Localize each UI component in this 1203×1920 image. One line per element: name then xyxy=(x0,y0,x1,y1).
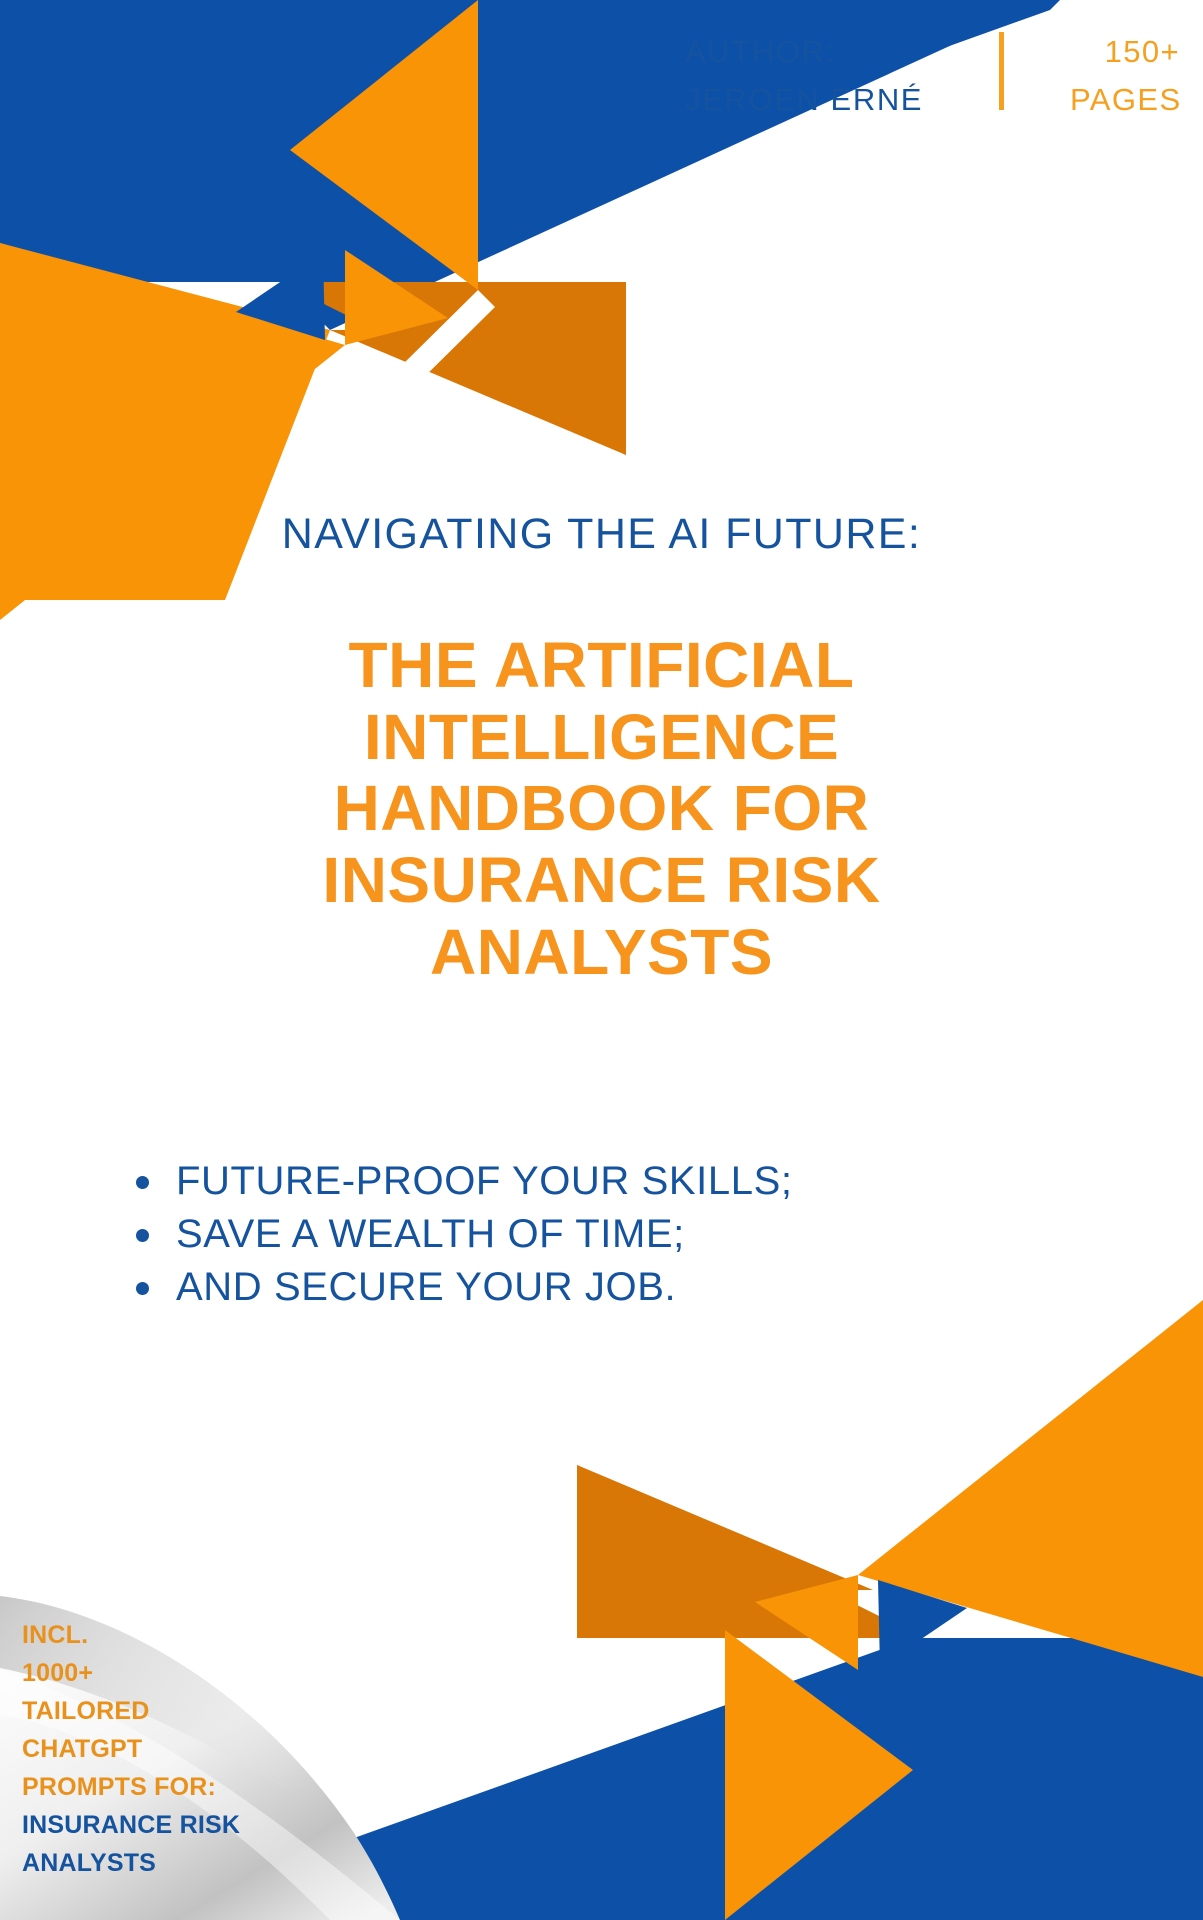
author-block: AUTHOR: JEROEN ERNÉ xyxy=(685,22,985,124)
shape-orange-dark-wedge-top xyxy=(280,282,626,455)
shape-orange-left-triangle xyxy=(0,243,345,620)
author-name: JEROEN ERNÉ xyxy=(685,76,985,124)
shape-blue-small-triangle-bottom xyxy=(878,1580,967,1667)
shape-blue-top-banner xyxy=(0,0,560,280)
main-title-line-3: HANDBOOK FOR xyxy=(150,773,1053,845)
benefit-item: SAVE A WEALTH OF TIME; xyxy=(128,1208,1028,1261)
benefits-list: FUTURE-PROOF YOUR SKILLS; SAVE A WEALTH … xyxy=(128,1155,1028,1313)
pages-count: 150+ xyxy=(1070,28,1180,76)
promo-line: 1000+ xyxy=(22,1654,322,1692)
pages-block: 150+ PAGES xyxy=(1070,22,1180,124)
header: AUTHOR: JEROEN ERNÉ 150+ PAGES xyxy=(500,22,1180,132)
promo-line: TAILORED xyxy=(22,1692,322,1730)
shape-orange-left-wing-lower xyxy=(0,330,330,600)
shape-orange-dark-wedge-bottom xyxy=(577,1465,923,1638)
promo-line: INCL. xyxy=(22,1616,322,1654)
vertical-divider xyxy=(999,32,1004,110)
main-title-line-2: INTELLIGENCE xyxy=(150,702,1053,774)
author-label: AUTHOR: xyxy=(685,28,985,76)
shape-blue-small-triangle xyxy=(236,253,325,340)
promo-line: CHATGPT xyxy=(22,1730,322,1768)
shape-orange-arrow-left xyxy=(290,0,478,290)
main-title-line-1: THE ARTIFICIAL xyxy=(150,630,1053,702)
shape-orange-big-left-pointer xyxy=(180,0,478,288)
subtitle: NAVIGATING THE AI FUTURE: xyxy=(0,510,1203,559)
shape-orange-dark-wedge-bottom-2 xyxy=(577,1465,873,1590)
promo-block: INCL. 1000+ TAILORED CHATGPT PROMPTS FOR… xyxy=(22,1616,322,1882)
promo-target-line: INSURANCE RISK xyxy=(22,1806,322,1844)
shape-white-gap-top xyxy=(313,290,495,470)
shape-orange-right-wing xyxy=(858,1300,1203,1677)
pages-word: PAGES xyxy=(1070,76,1180,124)
book-cover: AUTHOR: JEROEN ERNÉ 150+ PAGES NAVIGATIN… xyxy=(0,0,1203,1920)
shape-orange-small-triangle-bottom xyxy=(755,1575,858,1670)
benefit-item: AND SECURE YOUR JOB. xyxy=(128,1261,1028,1314)
shape-orange-arrow-right xyxy=(725,1630,913,1920)
promo-target-line: ANALYSTS xyxy=(22,1844,322,1882)
main-title-line-5: ANALYSTS xyxy=(150,917,1053,989)
main-title-line-4: INSURANCE RISK xyxy=(150,845,1053,917)
shape-orange-small-right-triangle xyxy=(345,250,448,345)
main-title: THE ARTIFICIAL INTELLIGENCE HANDBOOK FOR… xyxy=(150,630,1053,988)
shape-orange-dark-wedge-top-2 xyxy=(330,330,626,455)
benefit-item: FUTURE-PROOF YOUR SKILLS; xyxy=(128,1155,1028,1208)
promo-line: PROMPTS FOR: xyxy=(22,1768,322,1806)
